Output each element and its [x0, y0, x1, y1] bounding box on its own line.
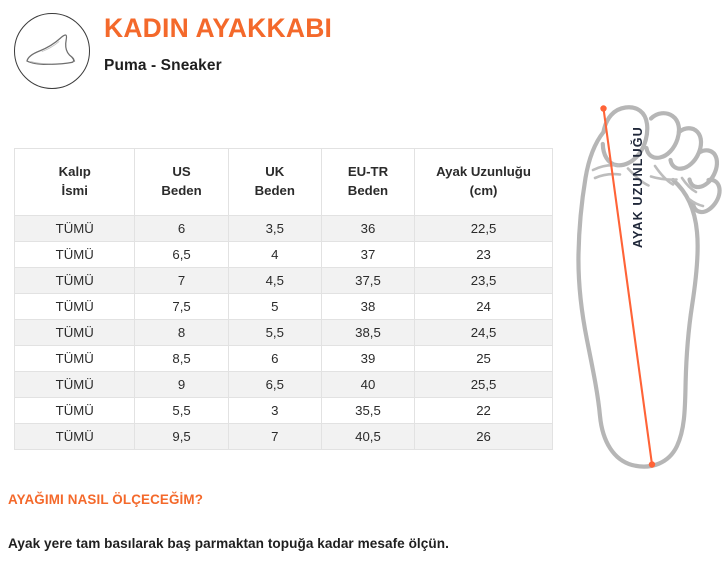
cell-ayak-uzunlugu: 23,5 — [415, 268, 553, 294]
cell-us-beden: 9 — [135, 372, 228, 398]
foot-sole-diagram — [556, 92, 727, 484]
cell-ayak-uzunlugu: 26 — [415, 424, 553, 450]
table-row: TÜMÜ96,54025,5 — [15, 372, 553, 398]
cell-ayak-uzunlugu: 22 — [415, 398, 553, 424]
cell-eu-tr-beden: 37 — [321, 242, 414, 268]
measurement-instructions: AYAĞIMI NASIL ÖLÇECEĞİM? Ayak yere tam b… — [8, 492, 628, 551]
page-title: KADIN AYAKKABI — [104, 14, 544, 44]
table-row: TÜMÜ85,538,524,5 — [15, 320, 553, 346]
cell-uk-beden: 6,5 — [228, 372, 321, 398]
cell-eu-tr-beden: 39 — [321, 346, 414, 372]
measure-text: Ayak yere tam basılarak baş parmaktan to… — [8, 507, 628, 551]
cell-us-beden: 6,5 — [135, 242, 228, 268]
cell-us-beden: 5,5 — [135, 398, 228, 424]
cell-ayak-uzunlugu: 24,5 — [415, 320, 553, 346]
cell-uk-beden: 4,5 — [228, 268, 321, 294]
cell-eu-tr-beden: 38,5 — [321, 320, 414, 346]
cell-eu-tr-beden: 40,5 — [321, 424, 414, 450]
high-heel-shoe-icon — [14, 13, 90, 89]
column-header-ayak-uzunlugu: Ayak Uzunluğu (cm) — [415, 149, 553, 216]
cell-ayak-uzunlugu: 23 — [415, 242, 553, 268]
size-table: Kalıp İsmi US Beden UK Beden EU-TR Beden… — [14, 148, 553, 450]
cell-kalip-ismi: TÜMÜ — [15, 320, 135, 346]
cell-eu-tr-beden: 40 — [321, 372, 414, 398]
cell-ayak-uzunlugu: 24 — [415, 294, 553, 320]
cell-eu-tr-beden: 37,5 — [321, 268, 414, 294]
cell-kalip-ismi: TÜMÜ — [15, 424, 135, 450]
measure-heading: AYAĞIMI NASIL ÖLÇECEĞİM? — [8, 492, 628, 507]
cell-us-beden: 8 — [135, 320, 228, 346]
title-block: KADIN AYAKKABI Puma - Sneaker — [104, 14, 544, 75]
table-row: TÜMÜ74,537,523,5 — [15, 268, 553, 294]
column-header-us-beden: US Beden — [135, 149, 228, 216]
cell-kalip-ismi: TÜMÜ — [15, 216, 135, 242]
column-header-uk-beden: UK Beden — [228, 149, 321, 216]
cell-eu-tr-beden: 35,5 — [321, 398, 414, 424]
page-header: KADIN AYAKKABI Puma - Sneaker — [0, 0, 560, 100]
cell-eu-tr-beden: 38 — [321, 294, 414, 320]
cell-eu-tr-beden: 36 — [321, 216, 414, 242]
table-row: TÜMÜ63,53622,5 — [15, 216, 553, 242]
cell-kalip-ismi: TÜMÜ — [15, 242, 135, 268]
size-chart-table: Kalıp İsmi US Beden UK Beden EU-TR Beden… — [14, 148, 553, 450]
cell-uk-beden: 5 — [228, 294, 321, 320]
table-row: TÜMÜ6,543723 — [15, 242, 553, 268]
cell-us-beden: 9,5 — [135, 424, 228, 450]
cell-ayak-uzunlugu: 25,5 — [415, 372, 553, 398]
cell-kalip-ismi: TÜMÜ — [15, 294, 135, 320]
cell-kalip-ismi: TÜMÜ — [15, 268, 135, 294]
table-body: TÜMÜ63,53622,5TÜMÜ6,543723TÜMÜ74,537,523… — [15, 216, 553, 450]
cell-ayak-uzunlugu: 25 — [415, 346, 553, 372]
table-row: TÜMÜ9,5740,526 — [15, 424, 553, 450]
column-header-kalip-ismi: Kalıp İsmi — [15, 149, 135, 216]
cell-uk-beden: 5,5 — [228, 320, 321, 346]
cell-us-beden: 6 — [135, 216, 228, 242]
table-row: TÜMÜ8,563925 — [15, 346, 553, 372]
cell-uk-beden: 7 — [228, 424, 321, 450]
cell-uk-beden: 3,5 — [228, 216, 321, 242]
cell-uk-beden: 4 — [228, 242, 321, 268]
cell-us-beden: 7,5 — [135, 294, 228, 320]
table-row: TÜMÜ7,553824 — [15, 294, 553, 320]
column-header-eu-tr-beden: EU-TR Beden — [321, 149, 414, 216]
cell-kalip-ismi: TÜMÜ — [15, 346, 135, 372]
cell-ayak-uzunlugu: 22,5 — [415, 216, 553, 242]
table-header: Kalıp İsmi US Beden UK Beden EU-TR Beden… — [15, 149, 553, 216]
cell-kalip-ismi: TÜMÜ — [15, 372, 135, 398]
cell-kalip-ismi: TÜMÜ — [15, 398, 135, 424]
table-row: TÜMÜ5,5335,522 — [15, 398, 553, 424]
cell-uk-beden: 3 — [228, 398, 321, 424]
table-header-row: Kalıp İsmi US Beden UK Beden EU-TR Beden… — [15, 149, 553, 216]
cell-uk-beden: 6 — [228, 346, 321, 372]
cell-us-beden: 7 — [135, 268, 228, 294]
page-subtitle: Puma - Sneaker — [104, 44, 544, 75]
cell-us-beden: 8,5 — [135, 346, 228, 372]
